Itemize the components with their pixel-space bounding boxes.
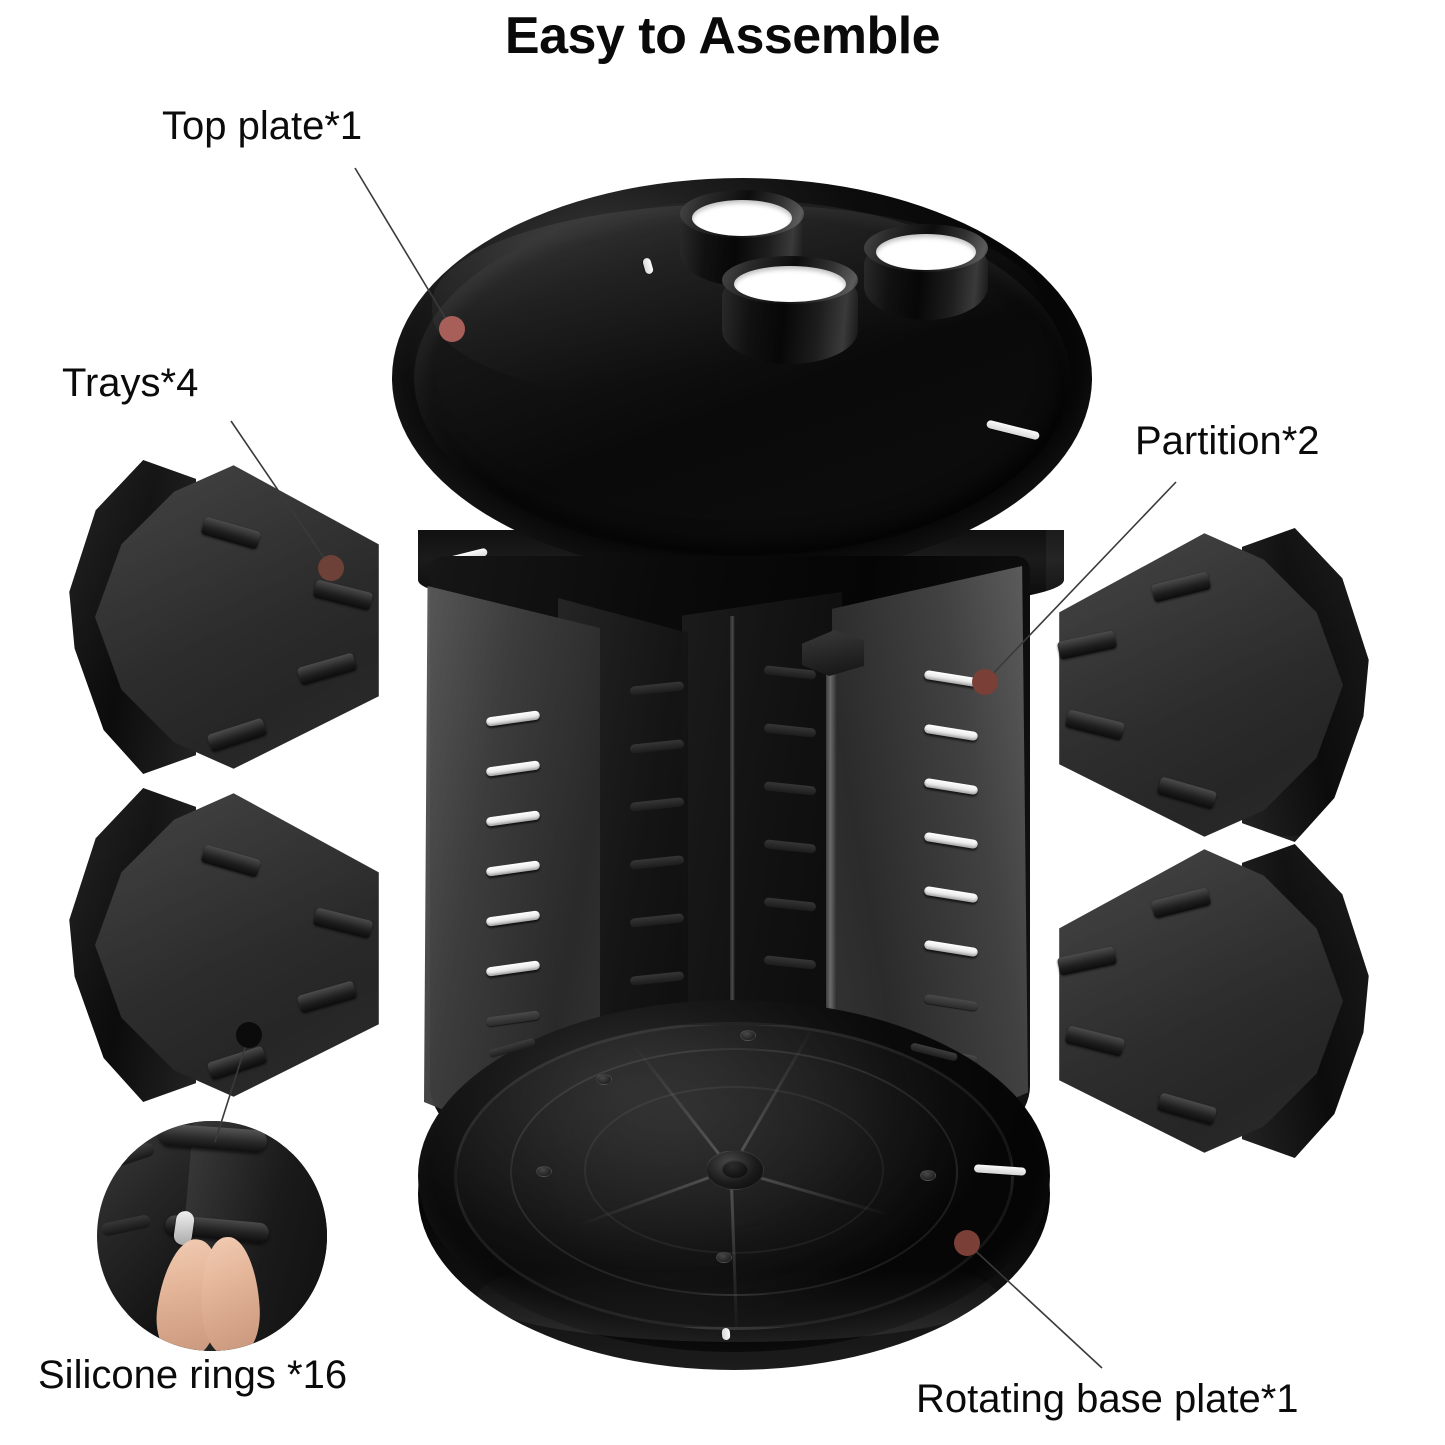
base-screw-point	[740, 1030, 756, 1041]
base-screw-point	[920, 1170, 936, 1181]
cup-hole-bore	[692, 200, 792, 236]
callout-label-rotating-base-plate: Rotating base plate*1	[916, 1377, 1299, 1422]
detail-bubble	[97, 1121, 327, 1351]
callout-label-trays: Trays*4	[62, 361, 198, 406]
tray-bottom-left	[62, 780, 392, 1110]
callout-label-silicone-rings: Silicone rings *16	[38, 1353, 347, 1398]
tray-bottom-right	[1046, 836, 1376, 1166]
callout-label-top-plate: Top plate*1	[162, 104, 362, 149]
base-bearing-hub-center	[722, 1160, 748, 1178]
base-slot	[722, 1328, 731, 1341]
base-screw-point	[536, 1166, 552, 1177]
page-title: Easy to Assemble	[0, 6, 1445, 66]
callout-label-partition: Partition*2	[1135, 419, 1320, 464]
base-screw-point	[596, 1074, 612, 1085]
tray-top-left	[62, 452, 392, 782]
base-screw-point	[716, 1252, 732, 1263]
tray-top-right	[1046, 520, 1376, 850]
part-rotating-base-plate	[418, 1000, 1050, 1412]
cup-hole-bore	[734, 266, 846, 302]
assembly-diagram: Easy to Assemble	[0, 0, 1445, 1445]
detail-side-slot	[100, 1214, 152, 1237]
cup-hole-3	[864, 224, 988, 320]
detail-side-slot	[102, 1141, 156, 1170]
cup-hole-bore	[876, 234, 976, 270]
silicone-ring-detail-inset	[97, 1121, 393, 1347]
top-plate-body	[392, 178, 1092, 608]
cup-hole-2	[722, 256, 858, 364]
